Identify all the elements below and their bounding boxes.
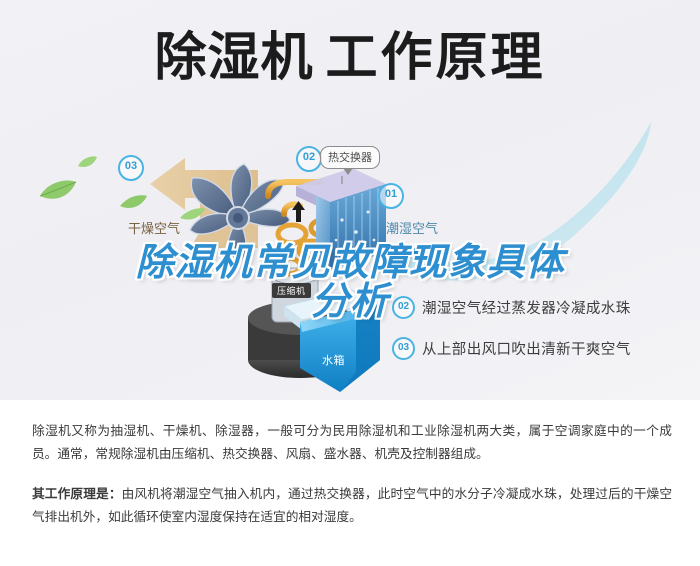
label-compressor: 压缩机 bbox=[272, 283, 311, 298]
article-body: 除湿机又称为抽湿机、干燥机、除湿器，一般可分为民用除湿机和工业除湿机两大类，属于… bbox=[32, 420, 672, 546]
legend-label: 从上部出风口吹出清新干爽空气 bbox=[422, 338, 631, 359]
hero-infographic: 除湿机工作原理 bbox=[0, 0, 700, 400]
heat-exchanger-coil bbox=[296, 168, 386, 270]
legend-number: 03 bbox=[392, 337, 415, 360]
body-paragraph-2-rest: 由风机将潮湿空气抽入机内，通过热交换器，此时空气中的水分子冷凝成水珠，处理过后的… bbox=[32, 487, 672, 524]
body-paragraph-2-lead: 其工作原理是： bbox=[32, 487, 122, 501]
badge-dry-air: 03 bbox=[118, 155, 144, 181]
badge-humid-air: 01 bbox=[378, 183, 404, 209]
legend-item: 02 潮湿空气经过蒸发器冷凝成水珠 bbox=[392, 296, 631, 319]
label-water-tank: 水箱 bbox=[322, 352, 345, 368]
infographic-page: 除湿机工作原理 bbox=[0, 0, 700, 566]
legend-number: 02 bbox=[392, 296, 415, 319]
body-paragraph-1: 除湿机又称为抽湿机、干燥机、除湿器，一般可分为民用除湿机和工业除湿机两大类，属于… bbox=[32, 420, 672, 466]
badge-heat-exchanger: 02 bbox=[296, 146, 322, 172]
legend-list: 02 潮湿空气经过蒸发器冷凝成水珠 03 从上部出风口吹出清新干爽空气 bbox=[392, 296, 631, 378]
body-paragraph-2: 其工作原理是：由风机将潮湿空气抽入机内，通过热交换器，此时空气中的水分子冷凝成水… bbox=[32, 483, 672, 529]
label-heat-exchanger: 热交换器 bbox=[320, 146, 380, 169]
legend-label: 潮湿空气经过蒸发器冷凝成水珠 bbox=[422, 297, 631, 318]
label-humid-air: 潮湿空气 bbox=[386, 218, 438, 237]
legend-item: 03 从上部出风口吹出清新干爽空气 bbox=[392, 337, 631, 360]
humid-air-swoosh-arrow bbox=[398, 122, 651, 281]
label-dry-air: 干燥空气 bbox=[128, 218, 180, 237]
